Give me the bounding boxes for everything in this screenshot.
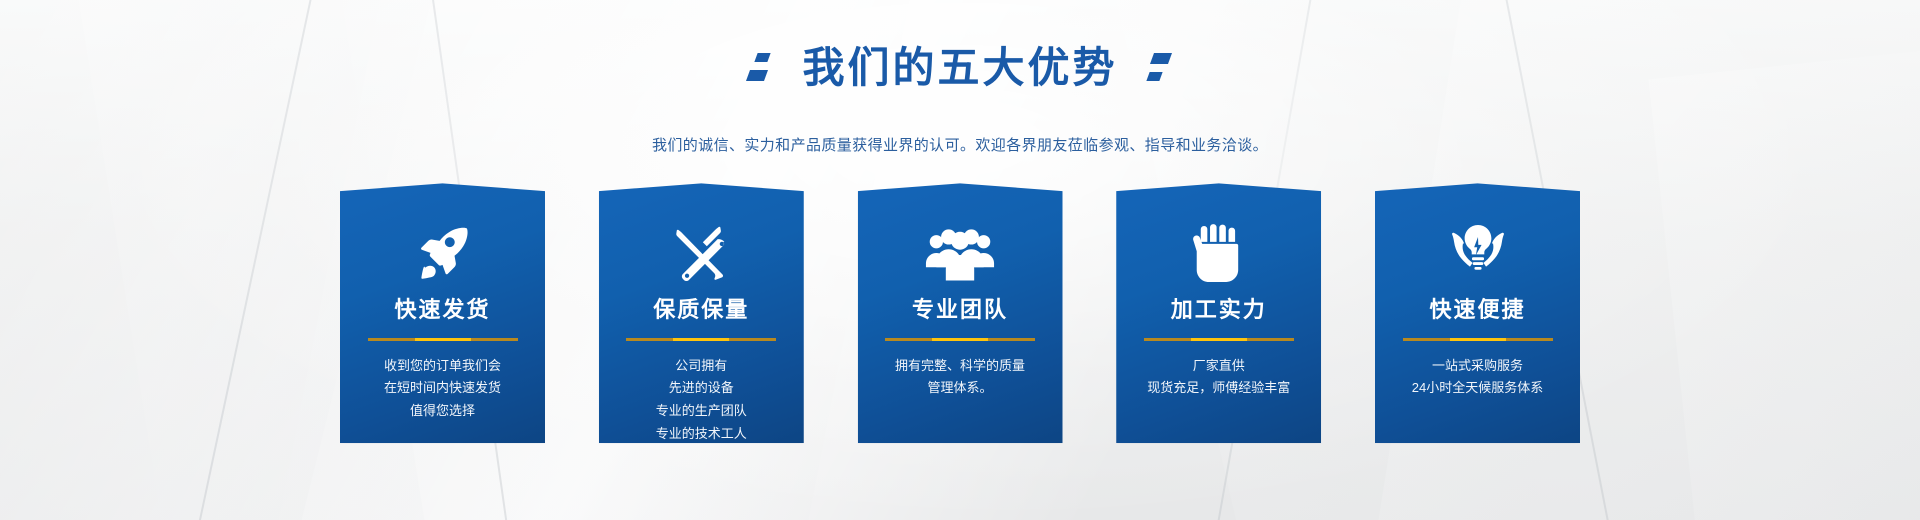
card-divider	[368, 338, 518, 341]
advantage-card-desc: 收到您的订单我们会 在短时间内快速发货 值得您选择	[340, 355, 545, 423]
fist-hand-icon	[1116, 217, 1321, 291]
slash-mark-left-icon	[746, 51, 776, 85]
advantage-card[interactable]: 快速发货 收到您的订单我们会 在短时间内快速发货 值得您选择	[340, 183, 545, 443]
advantage-card[interactable]: 加工实力 厂家直供 现货充足，师傅经验丰富	[1116, 183, 1321, 443]
advantage-card-desc: 一站式采购服务 24小时全天候服务体系	[1375, 355, 1580, 401]
desc-line: 专业的生产团队	[607, 400, 796, 423]
desc-line: 公司拥有	[607, 355, 796, 378]
team-people-icon	[858, 217, 1063, 291]
slash-mark-right-icon	[1144, 51, 1174, 85]
advantage-card[interactable]: 专业团队 拥有完整、科学的质量 管理体系。	[858, 183, 1063, 443]
advantage-card-title: 加工实力	[1116, 297, 1321, 323]
desc-line: 先进的设备	[607, 377, 796, 400]
advantage-card-desc: 厂家直供 现货充足，师傅经验丰富	[1116, 355, 1321, 401]
card-divider	[626, 338, 776, 341]
desc-line: 在短时间内快速发货	[348, 377, 537, 400]
desc-line: 拥有完整、科学的质量	[866, 355, 1055, 378]
advantage-card[interactable]: 快速便捷 一站式采购服务 24小时全天候服务体系	[1375, 183, 1580, 443]
desc-line: 值得您选择	[348, 400, 537, 423]
advantage-card-title: 快速发货	[340, 297, 545, 323]
desc-line: 收到您的订单我们会	[348, 355, 537, 378]
advantage-card-title: 保质保量	[599, 297, 804, 323]
card-divider	[1403, 338, 1553, 341]
page-subtitle: 我们的诚信、实力和产品质量获得业界的认可。欢迎各界朋友莅临参观、指导和业务洽谈。	[0, 134, 1920, 155]
lightbulb-in-hands-icon	[1375, 217, 1580, 291]
card-divider	[1144, 338, 1294, 341]
desc-line: 现货充足，师傅经验丰富	[1124, 377, 1313, 400]
advantage-card-title: 快速便捷	[1375, 297, 1580, 323]
desc-line: 专业的技术工人	[607, 423, 796, 446]
header: 我们的五大优势 我们的诚信、实力和产品质量获得业界的认可。欢迎各界朋友莅临参观、…	[0, 0, 1920, 155]
wrench-screwdriver-icon	[599, 217, 804, 291]
advantage-card-desc: 公司拥有 先进的设备 专业的生产团队 专业的技术工人	[599, 355, 804, 446]
advantage-card-desc: 拥有完整、科学的质量 管理体系。	[858, 355, 1063, 401]
desc-line: 厂家直供	[1124, 355, 1313, 378]
advantage-card[interactable]: 保质保量 公司拥有 先进的设备 专业的生产团队 专业的技术工人	[599, 183, 804, 443]
card-divider	[885, 338, 1035, 341]
title-row: 我们的五大优势	[0, 18, 1920, 118]
rocket-icon	[340, 217, 545, 291]
advantage-card-list: 快速发货 收到您的订单我们会 在短时间内快速发货 值得您选择	[340, 183, 1580, 443]
page-title: 我们的五大优势	[802, 46, 1117, 90]
advantages-banner: 我们的五大优势 我们的诚信、实力和产品质量获得业界的认可。欢迎各界朋友莅临参观、…	[0, 0, 1920, 520]
desc-line: 24小时全天候服务体系	[1383, 377, 1572, 400]
desc-line: 一站式采购服务	[1383, 355, 1572, 378]
desc-line: 管理体系。	[866, 377, 1055, 400]
advantage-card-title: 专业团队	[858, 297, 1063, 323]
